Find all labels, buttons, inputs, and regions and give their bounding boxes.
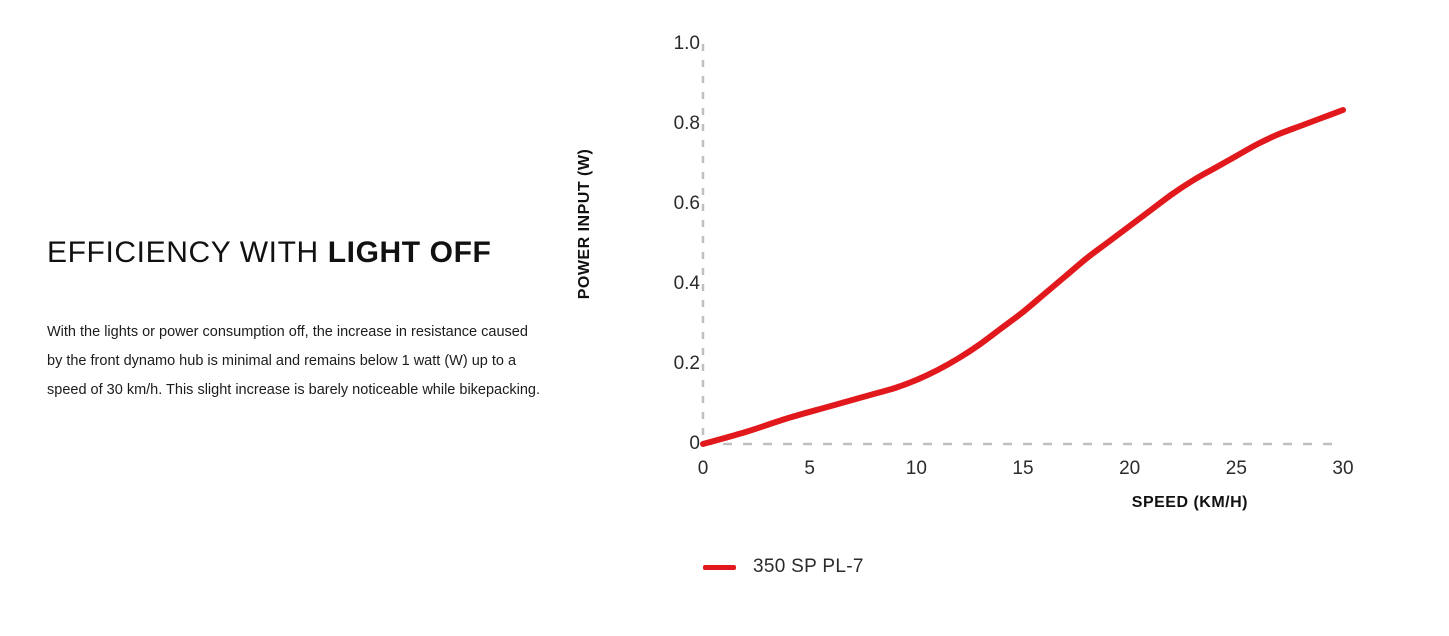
headline-bold-part: LIGHT OFF [328, 236, 492, 269]
legend-label: 350 SP PL-7 [753, 556, 864, 578]
y-tick-label: 0.4 [640, 273, 700, 295]
x-tick-label: 0 [698, 458, 709, 480]
chart-svg [703, 44, 1343, 444]
y-tick-label: 1.0 [640, 33, 700, 55]
x-tick-label: 10 [906, 458, 927, 480]
legend-color-swatch [703, 565, 736, 570]
x-tick-label: 20 [1119, 458, 1140, 480]
page-title: EFFICIENCY WITH LIGHT OFF [47, 236, 557, 269]
series-line-350-sp-pl-7 [703, 110, 1343, 444]
plot-area: 00.20.40.60.81.0 051015202530 [703, 44, 1343, 444]
chart-container: POWER INPUT (W) 00.20.40.60.81.0 0510152… [608, 44, 1368, 604]
y-tick-label: 0.8 [640, 113, 700, 135]
x-tick-label: 5 [804, 458, 815, 480]
y-tick-label: 0 [640, 433, 700, 455]
headline-light-part: EFFICIENCY WITH [47, 236, 328, 269]
x-axis-title: SPEED (KM/H) [988, 494, 1248, 512]
x-axis-tick-labels: 051015202530 [703, 444, 1343, 484]
chart-legend: 350 SP PL-7 [703, 556, 864, 578]
body-paragraph: With the lights or power consumption off… [47, 318, 547, 405]
x-tick-label: 15 [1012, 458, 1033, 480]
x-tick-label: 25 [1226, 458, 1247, 480]
text-column: EFFICIENCY WITH LIGHT OFF With the light… [47, 236, 557, 269]
y-tick-label: 0.6 [640, 193, 700, 215]
y-axis-title: POWER INPUT (W) [576, 104, 594, 344]
x-tick-label: 30 [1332, 458, 1353, 480]
y-tick-label: 0.2 [640, 353, 700, 375]
